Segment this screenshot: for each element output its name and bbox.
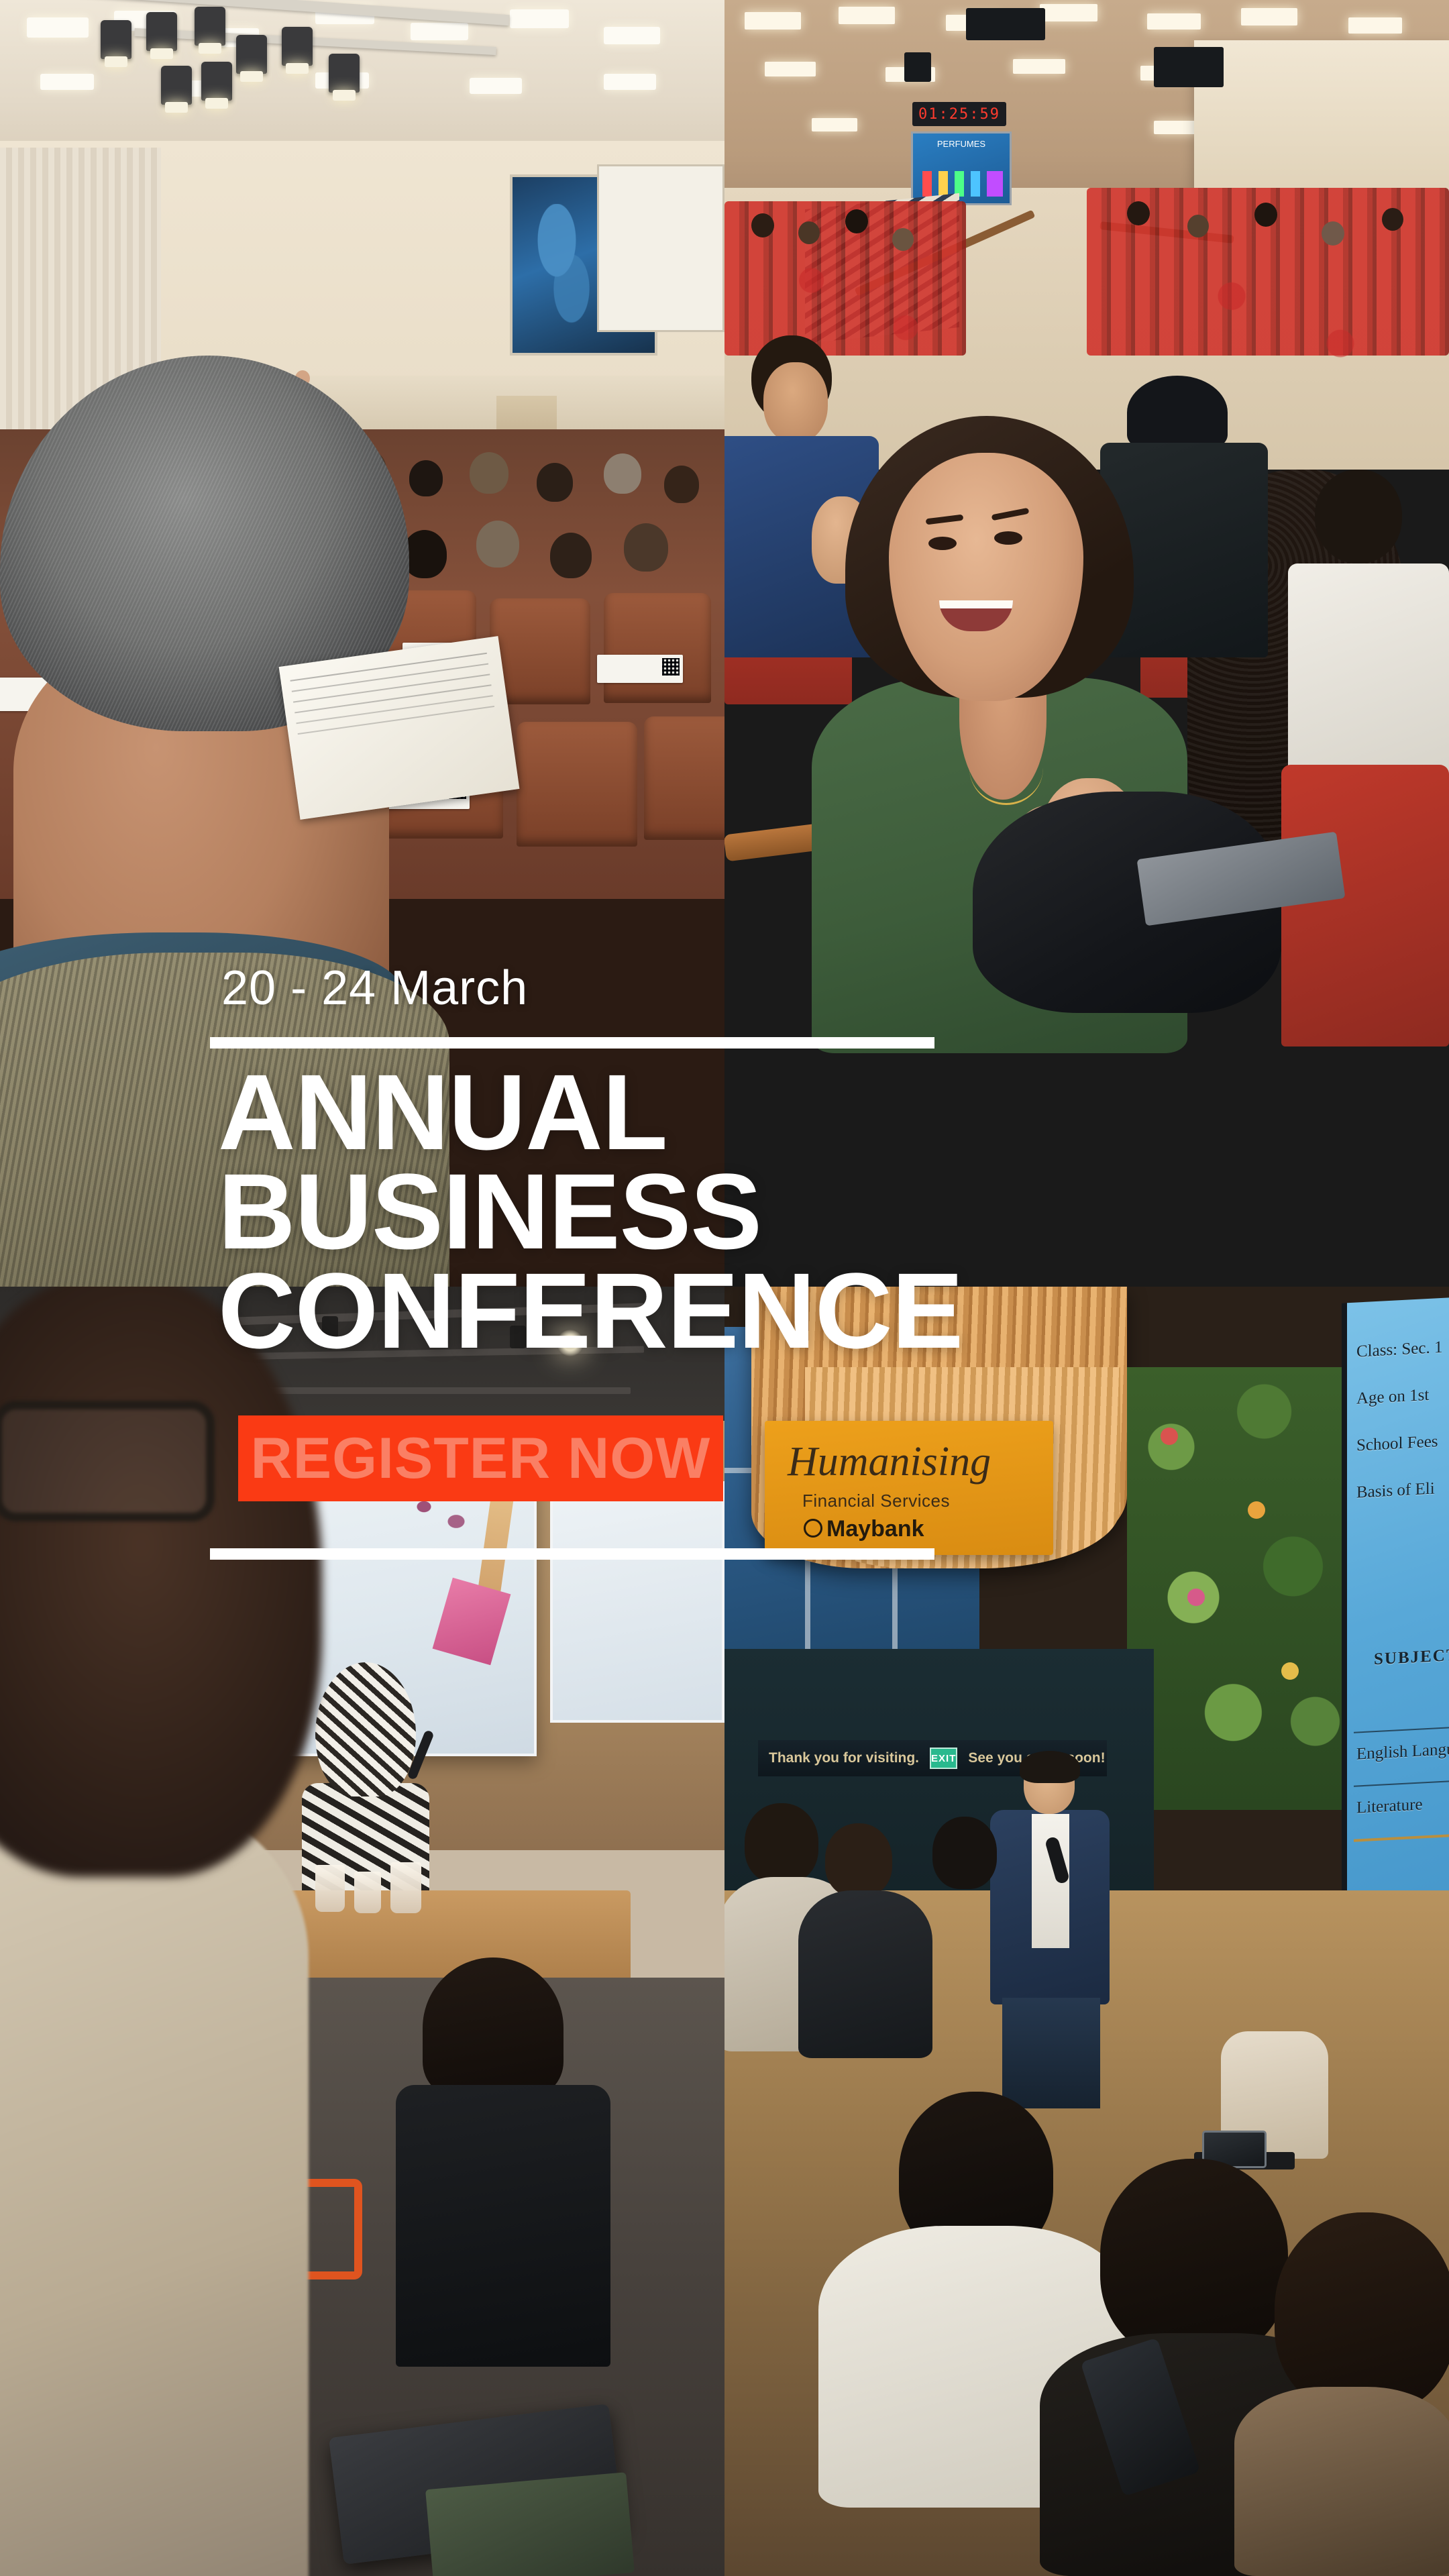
photo-bottom-right: Humanising Financial Services Maybank Cl…: [724, 1287, 1449, 2576]
seat-qr-card: [597, 655, 683, 683]
drink-cup: [390, 1862, 421, 1913]
attendee-head: [1315, 470, 1402, 563]
attendee-torso: [1288, 563, 1449, 792]
maybank-logo-icon: [804, 1519, 822, 1538]
attendee-body: [1234, 2387, 1449, 2576]
board-line: English Language: [1356, 1739, 1449, 1764]
attendee-head: [1275, 2212, 1449, 2414]
drink-cup: [354, 1872, 381, 1913]
led-timer-value: 01:25:59: [918, 106, 1000, 123]
photo-top-left: [0, 0, 724, 1287]
stage-whiteboard: [597, 164, 724, 332]
stage-light: [146, 12, 177, 51]
conference-poster: 01:25:59 PERFUMES: [0, 0, 1449, 2576]
register-now-button[interactable]: REGISTER NOW: [238, 1415, 723, 1501]
foreground-shoulder: [0, 1796, 309, 2576]
moss-plant-wall: [1127, 1367, 1348, 1810]
projection-screen-side: [550, 1481, 724, 1723]
board-line: School Fees: [1356, 1432, 1438, 1455]
presenter-with-microphone: [979, 1756, 1120, 2105]
photo-grid: 01:25:59 PERFUMES: [0, 0, 1449, 2576]
maybank-banner: Humanising Financial Services Maybank: [765, 1421, 1053, 1555]
banner-brand: Maybank: [826, 1516, 924, 1542]
seated-attendee: [376, 1957, 631, 2373]
banner-sub-line: Financial Services: [802, 1491, 950, 1511]
stage-light: [329, 54, 360, 93]
board-line: Class: Sec. 1: [1356, 1338, 1442, 1362]
attendee-head: [932, 1817, 997, 1889]
ceiling-light: [557, 1330, 584, 1356]
stage-light: [282, 27, 313, 66]
eyeglasses-icon: [0, 1401, 215, 1521]
photo-top-right: 01:25:59 PERFUMES: [724, 0, 1449, 1287]
led-timer-display: 01:25:59: [912, 102, 1006, 126]
wall-panel: [1154, 47, 1224, 87]
notebook-foreground: [425, 2472, 635, 2576]
slide-illustration-card: [433, 1578, 511, 1666]
attendee-torso: [1281, 765, 1449, 1046]
printed-handout: [279, 636, 520, 820]
stage-light: [161, 66, 192, 105]
attendee-face: [763, 362, 828, 443]
exit-icon: EXIT: [930, 1748, 957, 1769]
stage-light: [201, 62, 232, 101]
ceiling-vent: [966, 8, 1045, 40]
stage-light: [236, 35, 267, 74]
board-line: Basis of Eli: [1356, 1479, 1435, 1502]
exit-left-text: Thank you for visiting.: [769, 1750, 919, 1766]
foreground-head: [0, 1287, 322, 1877]
attendee-head: [1100, 2159, 1288, 2360]
tv-caption: PERFUMES: [937, 139, 985, 149]
map-graphic: [527, 204, 601, 325]
board-heading: SUBJECT: [1374, 1646, 1449, 1670]
attendee-head: [745, 1803, 818, 1884]
board-line: Age on 1st: [1356, 1386, 1429, 1409]
banner-script-line: Humanising: [788, 1438, 991, 1486]
attendee-body: [798, 1890, 932, 2058]
board-line: Literature: [1356, 1795, 1423, 1817]
attendee-head: [825, 1823, 892, 1897]
foreground-attendee: [0, 335, 470, 1287]
stage-light: [101, 20, 131, 59]
stage-light: [195, 7, 225, 46]
register-now-label: REGISTER NOW: [251, 1426, 711, 1492]
speaker-box: [904, 52, 931, 82]
